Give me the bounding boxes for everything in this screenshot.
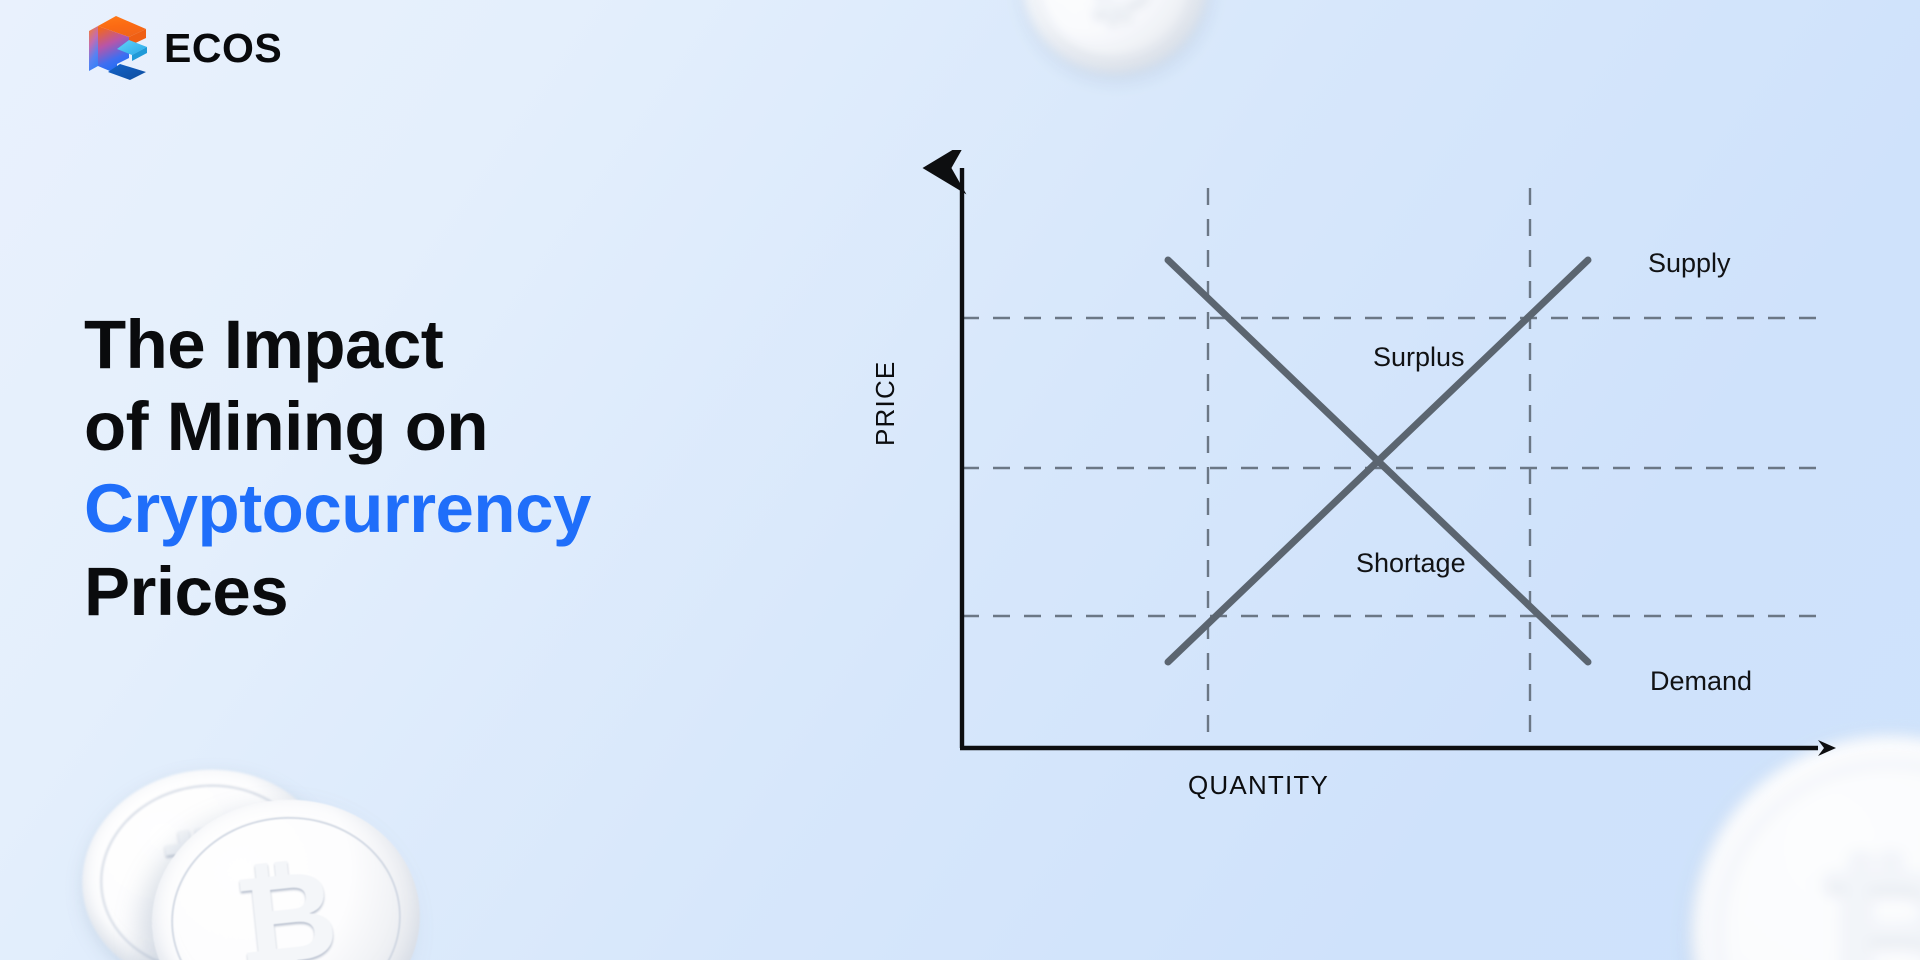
brand-logo[interactable]: ECOS: [84, 14, 282, 82]
x-axis-arrowhead: [1818, 740, 1836, 756]
page-title: The Impact of Mining on Cryptocurrency P…: [84, 304, 591, 632]
headline-line-3-accent: Cryptocurrency: [84, 468, 591, 550]
shortage-region-label: Shortage: [1356, 548, 1466, 579]
bitcoin-coin-front-left: ₿: [140, 787, 431, 960]
surplus-region-label: Surplus: [1373, 342, 1465, 373]
supply-demand-chart: PRICE QUANTITY Supply Demand Surplus Sho…: [880, 150, 1880, 830]
poster-canvas: ₿ ₿ ₿ ₿: [0, 0, 1920, 960]
bitcoin-symbol-icon: ₿: [1000, 0, 1230, 96]
ecos-cube-logo-icon: [84, 14, 150, 82]
y-axis-label: PRICE: [870, 361, 901, 446]
supply-curve-label: Supply: [1648, 248, 1731, 279]
demand-curve-label: Demand: [1650, 666, 1752, 697]
headline-line-4: Prices: [84, 551, 591, 633]
headline-line-2: of Mining on: [84, 386, 591, 468]
bitcoin-symbol-icon: ₿: [140, 787, 431, 960]
brand-name: ECOS: [164, 25, 282, 72]
headline-line-1: The Impact: [84, 304, 591, 386]
x-axis-label: QUANTITY: [1188, 770, 1329, 801]
bitcoin-coin-top-right: ₿: [1000, 0, 1230, 96]
